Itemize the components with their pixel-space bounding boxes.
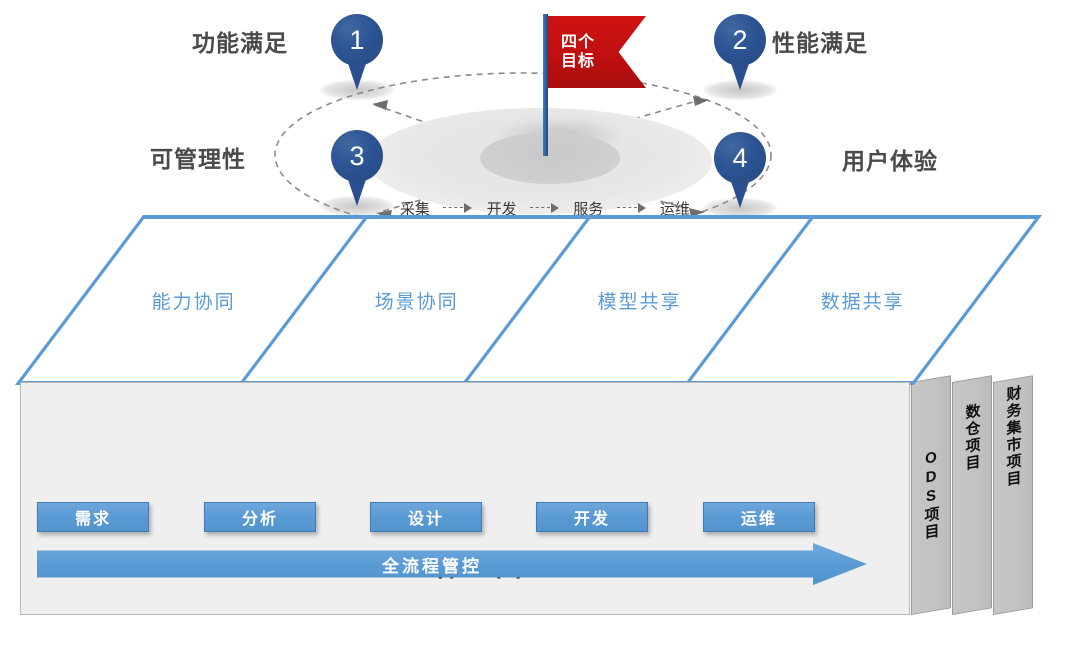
lifecycle-button-requirement[interactable]: 需求 xyxy=(37,502,149,532)
process-arrow-icon xyxy=(530,203,560,213)
flag-text-line1: 四个 xyxy=(561,33,595,52)
lifecycle-button-row: 需求 分析 设计 开发 运维 xyxy=(20,502,910,536)
map-pin-2[interactable]: 2 xyxy=(714,14,766,92)
top-face-label-1: 能力协同 xyxy=(152,287,236,314)
goal-label-1: 功能满足 xyxy=(192,24,288,58)
process-arrow-icon xyxy=(443,203,473,213)
full-process-arrow-label: 全流程管控 xyxy=(37,543,827,585)
side-panel-1[interactable]: ODS项目 xyxy=(911,375,951,615)
side-panel-label-3: 财务集市项目 xyxy=(1003,384,1024,490)
flag-text: 四个 目标 xyxy=(548,33,595,71)
lifecycle-button-operations[interactable]: 运维 xyxy=(703,502,815,532)
flag-pole xyxy=(543,14,548,156)
map-pin-4[interactable]: 4 xyxy=(714,132,766,210)
pin-number-1: 1 xyxy=(331,14,383,66)
lifecycle-button-analysis[interactable]: 分析 xyxy=(204,502,316,532)
flag-text-line2: 目标 xyxy=(561,52,595,71)
center-mound-inner xyxy=(480,132,620,184)
goals-scene: 四个 目标 1 2 3 4 功能满足 xyxy=(0,0,1080,240)
goal-label-3: 可管理性 xyxy=(150,140,246,174)
lifecycle-button-development[interactable]: 开发 xyxy=(536,502,648,532)
top-face: 能力协同 场景协同 模型共享 数据共享 xyxy=(0,215,1040,385)
process-arrow-icon xyxy=(617,203,647,213)
map-pin-1[interactable]: 1 xyxy=(331,14,383,92)
goal-label-4: 用户体验 xyxy=(842,142,938,176)
map-pin-3[interactable]: 3 xyxy=(331,130,383,208)
three-faces-box: 财务集市项目 数仓项目 ODS项目 能力协同 场景协同 模型共享 数据共享 一体… xyxy=(0,215,1080,635)
diagram-canvas: 四个 目标 1 2 3 4 功能满足 xyxy=(0,0,1080,651)
lifecycle-button-design[interactable]: 设计 xyxy=(370,502,482,532)
top-face-label-2: 场景协同 xyxy=(375,287,459,314)
side-panel-label-2: 数仓项目 xyxy=(962,402,983,474)
side-panel-label-1: ODS项目 xyxy=(921,448,942,543)
side-panel-2[interactable]: 数仓项目 xyxy=(952,375,992,615)
top-face-label-3: 模型共享 xyxy=(598,287,682,314)
flag-banner: 四个 目标 xyxy=(548,16,646,88)
goal-label-2: 性能满足 xyxy=(772,24,868,58)
pin-number-2: 2 xyxy=(714,14,766,66)
pin-number-4: 4 xyxy=(714,132,766,184)
pin-number-3: 3 xyxy=(331,130,383,182)
top-face-label-4: 数据共享 xyxy=(821,287,905,314)
side-panel-3[interactable]: 财务集市项目 xyxy=(993,375,1033,615)
